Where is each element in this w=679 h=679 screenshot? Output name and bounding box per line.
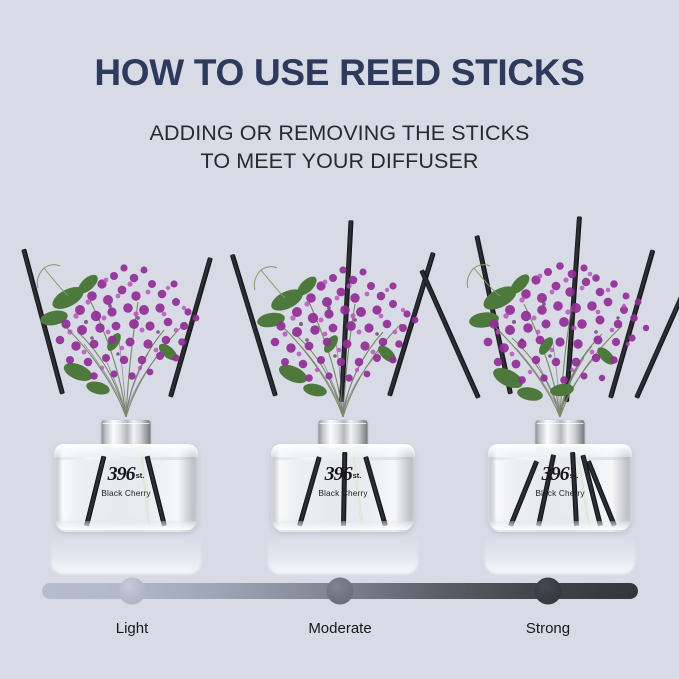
- subtitle-line-1: ADDING OR REMOVING THE STICKS: [0, 120, 679, 148]
- bottle-glass-jar: [271, 444, 415, 532]
- slider-knob-light[interactable]: [119, 578, 146, 605]
- diffuser-bottle: 396st. Black Cherry: [18, 412, 234, 540]
- bottle-reflection: [485, 534, 635, 574]
- diffuser-bottle: 396st. Black Cherry: [235, 412, 451, 540]
- slider-knob-strong[interactable]: [535, 578, 562, 605]
- slider-knob-moderate[interactable]: [327, 578, 354, 605]
- submerged-stem: [352, 456, 363, 526]
- dried-flower-bouquet: [452, 222, 668, 422]
- submerged-reed: [297, 456, 321, 526]
- bottle-reflection: [268, 534, 418, 574]
- dried-flower-bouquet: [18, 222, 234, 422]
- product-diffuser-light: 396st. Black Cherry: [18, 222, 234, 562]
- submerged-reed: [536, 454, 556, 526]
- page-subtitle: ADDING OR REMOVING THE STICKS TO MEET YO…: [0, 120, 679, 175]
- product-comparison-row: 396st. Black Cherry: [0, 222, 679, 562]
- product-diffuser-moderate: 396st. Black Cherry: [235, 222, 451, 562]
- dried-flower-bouquet: [235, 222, 451, 422]
- page-title: HOW TO USE REED STICKS: [0, 52, 679, 94]
- jar-base-highlight: [56, 521, 196, 530]
- slider-labels: Light Moderate Strong: [42, 620, 638, 644]
- bottle-glass-jar: [488, 444, 632, 532]
- jar-liquid-line: [491, 457, 629, 460]
- bottle-reflection: [51, 534, 201, 574]
- jar-glass-highlight: [54, 444, 198, 457]
- jar-glass-highlight: [488, 444, 632, 457]
- jar-base-highlight: [273, 521, 413, 530]
- bottle-glass-jar: [54, 444, 198, 532]
- diffuser-bottle: 396st. Black Cherry: [452, 412, 668, 540]
- submerged-reed: [84, 456, 106, 527]
- product-diffuser-strong: 396st. Black Cherry: [452, 222, 668, 562]
- slider-label-light: Light: [116, 620, 149, 637]
- submerged-reed: [363, 456, 387, 526]
- slider-label-strong: Strong: [526, 620, 570, 637]
- slider-label-moderate: Moderate: [308, 620, 371, 637]
- jar-base-highlight: [490, 521, 630, 530]
- submerged-reed: [341, 452, 347, 526]
- intensity-slider[interactable]: [42, 583, 638, 599]
- submerged-reed: [508, 460, 538, 527]
- subtitle-line-2: TO MEET YOUR DIFFUSER: [0, 148, 679, 176]
- jar-liquid-line: [57, 457, 195, 460]
